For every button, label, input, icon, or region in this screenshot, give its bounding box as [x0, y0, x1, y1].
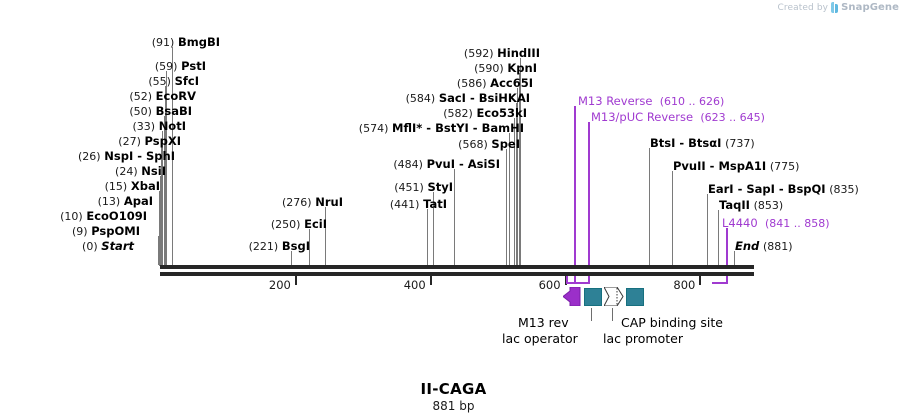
enzyme-site-names: EcoRV: [156, 89, 196, 103]
feature-glyph-lac-promoter[interactable]: [604, 287, 624, 310]
enzyme-site-label[interactable]: (221) BsgI: [249, 240, 310, 253]
ruler-tick: [295, 276, 297, 285]
enzyme-site-position: (55): [148, 75, 171, 88]
enzyme-site-names: EarI - SapI - BspQI: [708, 182, 826, 196]
enzyme-site-position: (9): [72, 225, 88, 238]
primer-stem-m13puc-reverse: [588, 122, 590, 265]
primer-bracket-l4440: [712, 282, 727, 284]
enzyme-site-label[interactable]: (33) NotI: [132, 120, 186, 133]
enzyme-site-names: BmgBI: [178, 35, 220, 49]
enzyme-site-position: (91): [152, 36, 175, 49]
snapgene-logo-icon: [831, 2, 838, 13]
enzyme-site-names: BsgI: [282, 239, 310, 253]
enzyme-site-label[interactable]: (584) SacI - BsiHKAI: [406, 92, 530, 105]
leader-line: [649, 148, 650, 265]
enzyme-site-label[interactable]: End (881): [735, 240, 793, 253]
map-title: II-CAGA: [0, 380, 907, 398]
enzyme-site-label[interactable]: (592) HindIII: [464, 47, 540, 60]
enzyme-site-label[interactable]: (13) ApaI: [98, 195, 153, 208]
enzyme-site-names: PvuII - MspA1I: [673, 159, 766, 173]
enzyme-site-position: (13): [98, 195, 121, 208]
leader-line: [159, 221, 160, 265]
sequence-backbone-lower: [160, 272, 754, 276]
leader-line: [707, 194, 708, 265]
enzyme-site-names: MflI* - BstYI - BamHI: [392, 121, 524, 135]
primer-label[interactable]: L4440 (841 .. 858): [722, 217, 830, 230]
enzyme-site-label[interactable]: (568) SpeI: [458, 138, 520, 151]
sequence-backbone-upper: [160, 265, 754, 269]
arrow-left-purple-icon: [563, 287, 581, 306]
enzyme-site-position: (50): [129, 105, 152, 118]
enzyme-site-label[interactable]: (586) Acc65I: [457, 77, 533, 90]
primer-stem-l4440: [726, 228, 728, 265]
enzyme-site-position: (451): [394, 181, 424, 194]
leader-line: [672, 171, 673, 265]
enzyme-site-position: (574): [359, 122, 389, 135]
enzyme-site-label[interactable]: (10) EcoO109I: [60, 210, 147, 223]
enzyme-site-position: (592): [464, 47, 494, 60]
arrow-right-white-icon: [604, 287, 624, 306]
enzyme-site-names: PvuI - AsiSI: [427, 157, 500, 171]
enzyme-site-names: EcoO109I: [86, 209, 147, 223]
enzyme-site-position: (737): [725, 137, 755, 150]
enzyme-site-names: StyI: [427, 180, 453, 194]
map-length: 881 bp: [0, 399, 907, 413]
enzyme-site-position: (221): [249, 240, 279, 253]
enzyme-site-names: SacI - BsiHKAI: [439, 91, 530, 105]
enzyme-site-names: HindIII: [497, 46, 540, 60]
enzyme-site-position: (441): [390, 198, 420, 211]
enzyme-site-label[interactable]: (451) StyI: [394, 181, 453, 194]
enzyme-site-label[interactable]: (0) Start: [82, 240, 134, 253]
feature-label[interactable]: CAP binding site: [621, 315, 723, 330]
leader-line: [718, 210, 719, 265]
feature-glyph-lac-operator[interactable]: [584, 288, 602, 306]
enzyme-site-label[interactable]: (574) MflI* - BstYI - BamHI: [359, 122, 524, 135]
primer-stem-m13-reverse: [574, 106, 576, 265]
enzyme-site-position: (584): [406, 92, 436, 105]
enzyme-site-names: SfcI: [175, 74, 199, 88]
leader-line: [734, 251, 735, 265]
feature-label[interactable]: lac promoter: [603, 331, 683, 346]
enzyme-site-position: (15): [105, 180, 128, 193]
enzyme-site-names: PstI: [181, 59, 206, 73]
enzyme-site-label[interactable]: (91) BmgBI: [152, 36, 220, 49]
ruler-tick-label: 200: [269, 278, 291, 292]
enzyme-site-label[interactable]: (582) Eco53kI: [443, 107, 527, 120]
enzyme-site-names: EciI: [304, 217, 327, 231]
enzyme-site-position: (276): [282, 196, 312, 209]
enzyme-site-position: (835): [829, 183, 859, 196]
feature-glyph-cap-binding-site[interactable]: [626, 288, 644, 306]
leader-line: [160, 176, 161, 265]
enzyme-site-label[interactable]: (27) PspXI: [118, 135, 181, 148]
enzyme-site-names: Eco53kI: [476, 106, 527, 120]
feature-glyph-m13-rev[interactable]: [563, 287, 581, 310]
primer-name: M13/pUC Reverse: [591, 110, 693, 124]
feature-label[interactable]: lac operator: [502, 331, 578, 346]
leader-line: [325, 207, 326, 265]
enzyme-site-label[interactable]: (50) BsaBI: [129, 105, 192, 118]
enzyme-site-label[interactable]: (15) XbaI: [105, 180, 160, 193]
enzyme-site-label[interactable]: PvuII - MspA1I (775): [673, 160, 799, 173]
enzyme-site-label[interactable]: (9) PspOMI: [72, 225, 140, 238]
leader-line: [158, 251, 159, 265]
feature-connector-lac-promoter: [612, 308, 613, 321]
primer-range: (610 .. 626): [660, 95, 725, 108]
enzyme-site-label[interactable]: (590) KpnI: [474, 62, 537, 75]
watermark-prefix: Created by: [778, 3, 829, 13]
enzyme-site-position: (250): [271, 218, 301, 231]
enzyme-site-names: NruI: [315, 195, 343, 209]
enzyme-site-label[interactable]: (52) EcoRV: [129, 90, 196, 103]
enzyme-site-names: Acc65I: [490, 76, 533, 90]
enzyme-site-names: Start: [101, 239, 134, 253]
enzyme-site-position: (24): [115, 165, 138, 178]
enzyme-site-label[interactable]: (250) EciI: [271, 218, 327, 231]
feature-connector-lac-operator: [591, 308, 592, 321]
enzyme-site-names: BsaBI: [156, 104, 192, 118]
enzyme-site-names: End: [735, 239, 759, 253]
enzyme-site-position: (586): [457, 77, 487, 90]
enzyme-site-label[interactable]: (484) PvuI - AsiSI: [393, 158, 500, 171]
primer-label[interactable]: M13/pUC Reverse (623 .. 645): [591, 111, 765, 124]
ruler-tick: [430, 276, 432, 285]
enzyme-site-position: (484): [393, 158, 423, 171]
leader-line: [506, 149, 507, 265]
enzyme-site-position: (0): [82, 240, 98, 253]
enzyme-site-label[interactable]: TaqII (853): [719, 199, 783, 212]
enzyme-site-position: (590): [474, 62, 504, 75]
enzyme-site-label[interactable]: BtsI - BtsαI (737): [650, 137, 755, 150]
enzyme-site-names: NspI - SphI: [104, 149, 175, 163]
primer-range: (623 .. 645): [700, 111, 765, 124]
ruler-tick-label: 600: [539, 278, 561, 292]
leader-line: [509, 133, 510, 265]
enzyme-site-position: (881): [763, 240, 793, 253]
enzyme-site-position: (582): [443, 107, 473, 120]
ruler-tick-label: 800: [673, 278, 695, 292]
enzyme-site-names: TaqII: [719, 198, 750, 212]
primer-bracket-tick-m13puc-reverse-right: [566, 276, 568, 284]
enzyme-site-position: (33): [132, 120, 155, 133]
leader-line: [454, 169, 455, 265]
enzyme-site-names: XbaI: [131, 179, 160, 193]
enzyme-site-names: TatI: [423, 197, 447, 211]
primer-label[interactable]: M13 Reverse (610 .. 626): [578, 95, 724, 108]
enzyme-site-label[interactable]: (59) PstI: [155, 60, 206, 73]
enzyme-site-names: PspOMI: [91, 224, 140, 238]
enzyme-site-label[interactable]: (26) NspI - SphI: [78, 150, 175, 163]
enzyme-site-label[interactable]: (441) TatI: [390, 198, 447, 211]
enzyme-site-label[interactable]: (55) SfcI: [148, 75, 199, 88]
ruler-tick-label: 400: [404, 278, 426, 292]
enzyme-site-names: SpeI: [491, 137, 520, 151]
enzyme-site-names: PspXI: [145, 134, 181, 148]
enzyme-site-label[interactable]: (276) NruI: [282, 196, 343, 209]
enzyme-site-position: (10): [60, 210, 83, 223]
watermark-brand: SnapGene: [841, 2, 899, 13]
enzyme-site-position: (853): [754, 199, 784, 212]
primer-bracket-m13puc-reverse: [566, 282, 589, 284]
snapgene-watermark: Created by SnapGene: [778, 2, 899, 13]
enzyme-site-position: (26): [78, 150, 101, 163]
primer-name: M13 Reverse: [578, 94, 652, 108]
ruler-tick: [699, 276, 701, 285]
enzyme-site-names: KpnI: [507, 61, 537, 75]
enzyme-site-position: (52): [129, 90, 152, 103]
primer-range: (841 .. 858): [765, 217, 830, 230]
enzyme-site-label[interactable]: (24) NsiI: [115, 165, 166, 178]
enzyme-site-names: ApaI: [124, 194, 153, 208]
sequence-map: Created by SnapGene (91) BmgBI(59) PstI(…: [0, 0, 907, 419]
enzyme-site-names: NsiI: [141, 164, 166, 178]
enzyme-site-label[interactable]: EarI - SapI - BspQI (835): [708, 183, 859, 196]
enzyme-site-position: (775): [770, 160, 800, 173]
enzyme-site-position: (568): [458, 138, 488, 151]
leader-line: [291, 251, 292, 265]
enzyme-site-position: (27): [118, 135, 141, 148]
feature-label[interactable]: M13 rev: [518, 315, 569, 330]
enzyme-site-names: BtsI - BtsαI: [650, 136, 721, 150]
leader-line: [427, 209, 428, 265]
enzyme-site-names: NotI: [159, 119, 186, 133]
enzyme-site-position: (59): [155, 60, 178, 73]
